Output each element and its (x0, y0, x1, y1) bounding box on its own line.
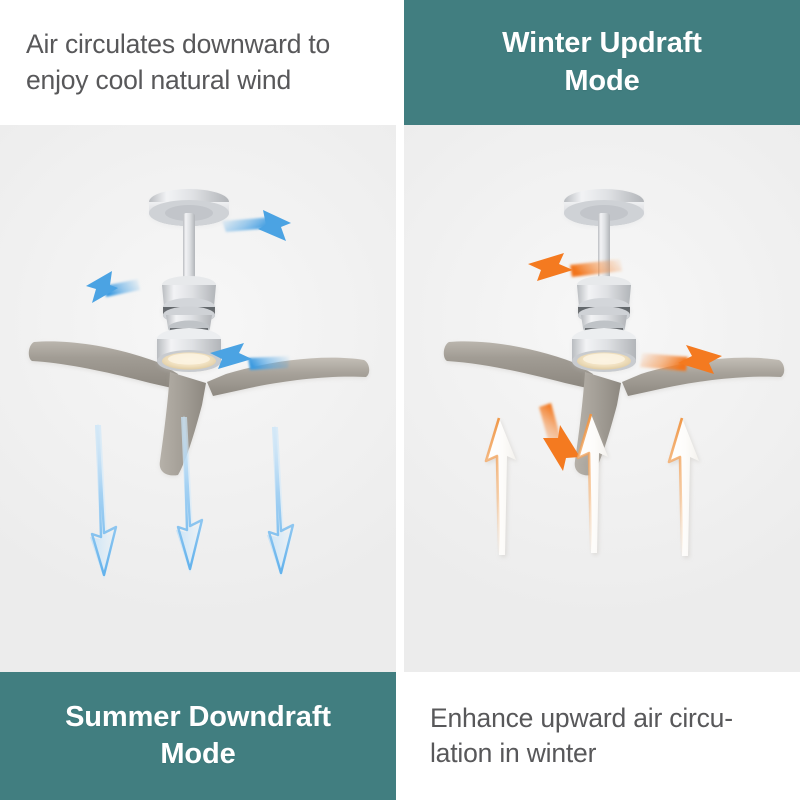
winter-title-line-1: Winter Updraft (502, 25, 702, 62)
rotation-arrow-lower-right (210, 343, 290, 370)
winter-caption-text: Enhance upward air circu- lation in wint… (430, 701, 774, 771)
airflow-stream-1 (486, 418, 516, 555)
winter-title-line-2: Mode (502, 63, 702, 100)
winter-updraft-illustration (404, 125, 800, 672)
airflow-stream-3 (669, 418, 699, 556)
summer-title-line-2: Mode (65, 736, 331, 773)
led-light-kit (572, 328, 636, 372)
airflow-stream-1 (90, 425, 118, 580)
panel-winter-mode-title: Winter Updraft Mode (404, 0, 800, 125)
downrod (183, 213, 195, 285)
fan-blade-left (444, 341, 593, 388)
gutter-top (396, 0, 404, 125)
rotation-arrow-upper-right (222, 210, 291, 241)
summer-downdraft-illustration (0, 125, 396, 672)
rotation-arrow-right (640, 345, 722, 374)
panel-summer-mode-title: Summer Downdraft Mode (0, 672, 396, 800)
panel-summer-caption: Air circulates downward to enjoy cool na… (0, 0, 396, 125)
summer-fan-svg (0, 125, 396, 672)
rotation-arrow-lower-left (539, 403, 580, 471)
winter-caption-line-2: lation in winter (430, 736, 774, 771)
summer-mode-title-text: Summer Downdraft Mode (65, 699, 331, 773)
winter-caption-line-1: Enhance upward air circu- (430, 701, 774, 736)
airflow-stream-3 (267, 427, 295, 578)
ceiling-fan-mode-infographic: Air circulates downward to enjoy cool na… (0, 0, 800, 800)
summer-title-line-1: Summer Downdraft (65, 699, 331, 736)
gutter-middle (396, 125, 404, 672)
summer-caption-line-1: Air circulates downward to (26, 27, 370, 62)
winter-mode-title-text: Winter Updraft Mode (502, 25, 702, 99)
fan-blade-left (29, 341, 178, 388)
summer-caption-text: Air circulates downward to enjoy cool na… (26, 27, 370, 97)
panel-winter-caption: Enhance upward air circu- lation in wint… (404, 672, 800, 800)
led-light-kit (157, 328, 221, 372)
rotation-arrow-left (86, 271, 140, 303)
downrod (598, 213, 610, 285)
winter-fan-svg (404, 125, 800, 672)
gutter-bottom (396, 672, 404, 800)
summer-caption-line-2: enjoy cool natural wind (26, 63, 370, 98)
